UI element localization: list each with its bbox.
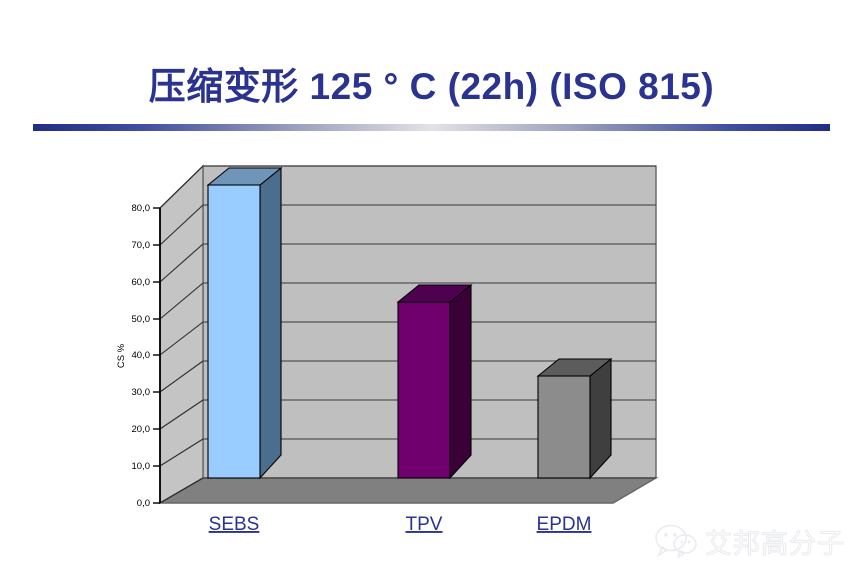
bar-tpv-side — [450, 285, 471, 478]
y-tick-label: 40,0 — [132, 350, 151, 361]
bar-sebs-front — [208, 185, 260, 478]
y-tick-label: 20,0 — [132, 424, 151, 435]
plot-floor — [160, 478, 656, 503]
chart-svg: 0,0 10,0 20,0 30,0 40,0 50,0 60,0 70,0 8… — [108, 158, 668, 548]
y-tick-label: 70,0 — [132, 240, 151, 251]
compression-set-bar-chart: 0,0 10,0 20,0 30,0 40,0 50,0 60,0 70,0 8… — [108, 158, 668, 548]
y-tick-label: 60,0 — [132, 277, 151, 288]
y-tick-label: 50,0 — [132, 314, 151, 325]
bar-sebs[interactable] — [208, 168, 281, 478]
bar-epdm-front — [538, 376, 590, 478]
y-tick-label: 80,0 — [132, 203, 151, 214]
bar-epdm[interactable] — [538, 359, 611, 478]
page-title: 压缩变形 125 ° C (22h) (ISO 815) — [149, 56, 714, 110]
bar-sebs-side — [260, 168, 281, 478]
slide-canvas: 压缩变形 125 ° C (22h) (ISO 815) — [0, 0, 863, 582]
category-label-epdm: EPDM — [537, 514, 592, 535]
bar-tpv[interactable] — [398, 285, 471, 478]
y-axis-tick-labels: 0,0 10,0 20,0 30,0 40,0 50,0 60,0 70,0 8… — [132, 203, 151, 509]
title-divider — [33, 124, 830, 131]
y-axis-title: CS % — [116, 343, 127, 368]
y-axis-ticks — [153, 208, 160, 503]
watermark: 艾邦高分子 — [654, 516, 859, 566]
y-tick-label: 30,0 — [132, 387, 151, 398]
title-area: 压缩变形 125 ° C (22h) (ISO 815) — [0, 52, 863, 114]
y-tick-label: 10,0 — [132, 461, 151, 472]
x-axis-category-labels: SEBS TPV EPDM — [209, 514, 592, 535]
watermark-text: 艾邦高分子 — [705, 522, 845, 561]
bar-tpv-front — [398, 302, 450, 478]
category-label-sebs: SEBS — [209, 514, 260, 535]
category-label-tpv: TPV — [406, 514, 443, 535]
y-tick-label: 0,0 — [137, 498, 150, 509]
